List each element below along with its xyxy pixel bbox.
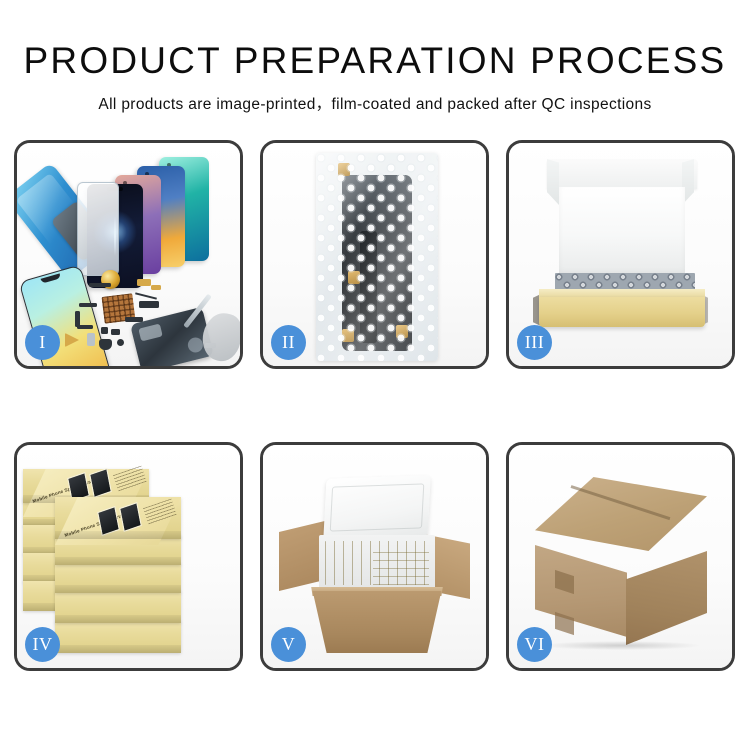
step-image-6: VI bbox=[509, 445, 732, 668]
step-badge-2: II bbox=[271, 325, 306, 360]
step-badge-6: VI bbox=[517, 627, 552, 662]
step-image-2: II bbox=[263, 143, 486, 366]
stacked-box bbox=[55, 621, 181, 653]
bubble-wrap-bag bbox=[316, 153, 438, 361]
part-chip-2 bbox=[111, 329, 120, 335]
step-panel-4: Mobile Phone Spare Parts Mobile P bbox=[14, 442, 243, 671]
part-strip-5 bbox=[125, 317, 143, 322]
step-image-1: I bbox=[17, 143, 240, 366]
step-badge-3: III bbox=[517, 325, 552, 360]
foam-lid bbox=[323, 475, 431, 541]
box-front-yellow bbox=[539, 297, 705, 327]
step-panel-3: III bbox=[506, 140, 735, 369]
box-lid-left-flap bbox=[547, 159, 559, 205]
carton-top-face bbox=[535, 477, 707, 551]
white-foam-sheet bbox=[559, 187, 685, 275]
carton-front bbox=[307, 591, 447, 653]
step-panel-2: II bbox=[260, 140, 489, 369]
box-lid-back bbox=[547, 159, 697, 189]
part-strip-2 bbox=[79, 303, 97, 307]
step-badge-5: V bbox=[271, 627, 306, 662]
page-subtitle: All products are image-printed，film-coat… bbox=[0, 92, 750, 114]
part-cable-1 bbox=[135, 292, 157, 299]
phone-back-housing bbox=[130, 307, 214, 366]
carton-right-face bbox=[626, 551, 707, 645]
plastic-sheen bbox=[316, 153, 438, 361]
yellow-boxes-row-2 bbox=[373, 545, 429, 585]
part-button bbox=[117, 339, 124, 346]
step-image-3: III bbox=[509, 143, 732, 366]
part-gold-1 bbox=[137, 279, 151, 286]
carton-shadow bbox=[543, 641, 699, 650]
carton-left-face bbox=[535, 545, 627, 637]
part-chip-1 bbox=[101, 327, 108, 334]
part-strip-1 bbox=[89, 283, 111, 287]
part-strip-4 bbox=[77, 325, 93, 329]
step-panel-5: V bbox=[260, 442, 489, 671]
product-preparation-infographic: PRODUCT PREPARATION PROCESS All products… bbox=[0, 0, 750, 750]
step-image-5: V bbox=[263, 445, 486, 668]
step-badge-1: I bbox=[25, 325, 60, 360]
part-gold-2 bbox=[151, 285, 161, 290]
header: PRODUCT PREPARATION PROCESS All products… bbox=[0, 0, 750, 114]
screen-protector-glass bbox=[77, 182, 119, 276]
stacked-box-labeled: Mobile Phone Spare Parts bbox=[55, 497, 181, 539]
step-panel-6: VI bbox=[506, 442, 735, 671]
stacked-box bbox=[55, 563, 181, 593]
part-flex-1 bbox=[139, 301, 159, 308]
part-sim-tray bbox=[87, 333, 95, 346]
stacked-box bbox=[55, 591, 181, 623]
step-panel-1: I bbox=[14, 140, 243, 369]
steps-grid: I II bbox=[14, 140, 736, 685]
step-image-4: Mobile Phone Spare Parts Mobile P bbox=[17, 445, 240, 668]
page-title: PRODUCT PREPARATION PROCESS bbox=[0, 42, 750, 81]
step-badge-4: IV bbox=[25, 627, 60, 662]
part-speaker bbox=[99, 339, 112, 350]
